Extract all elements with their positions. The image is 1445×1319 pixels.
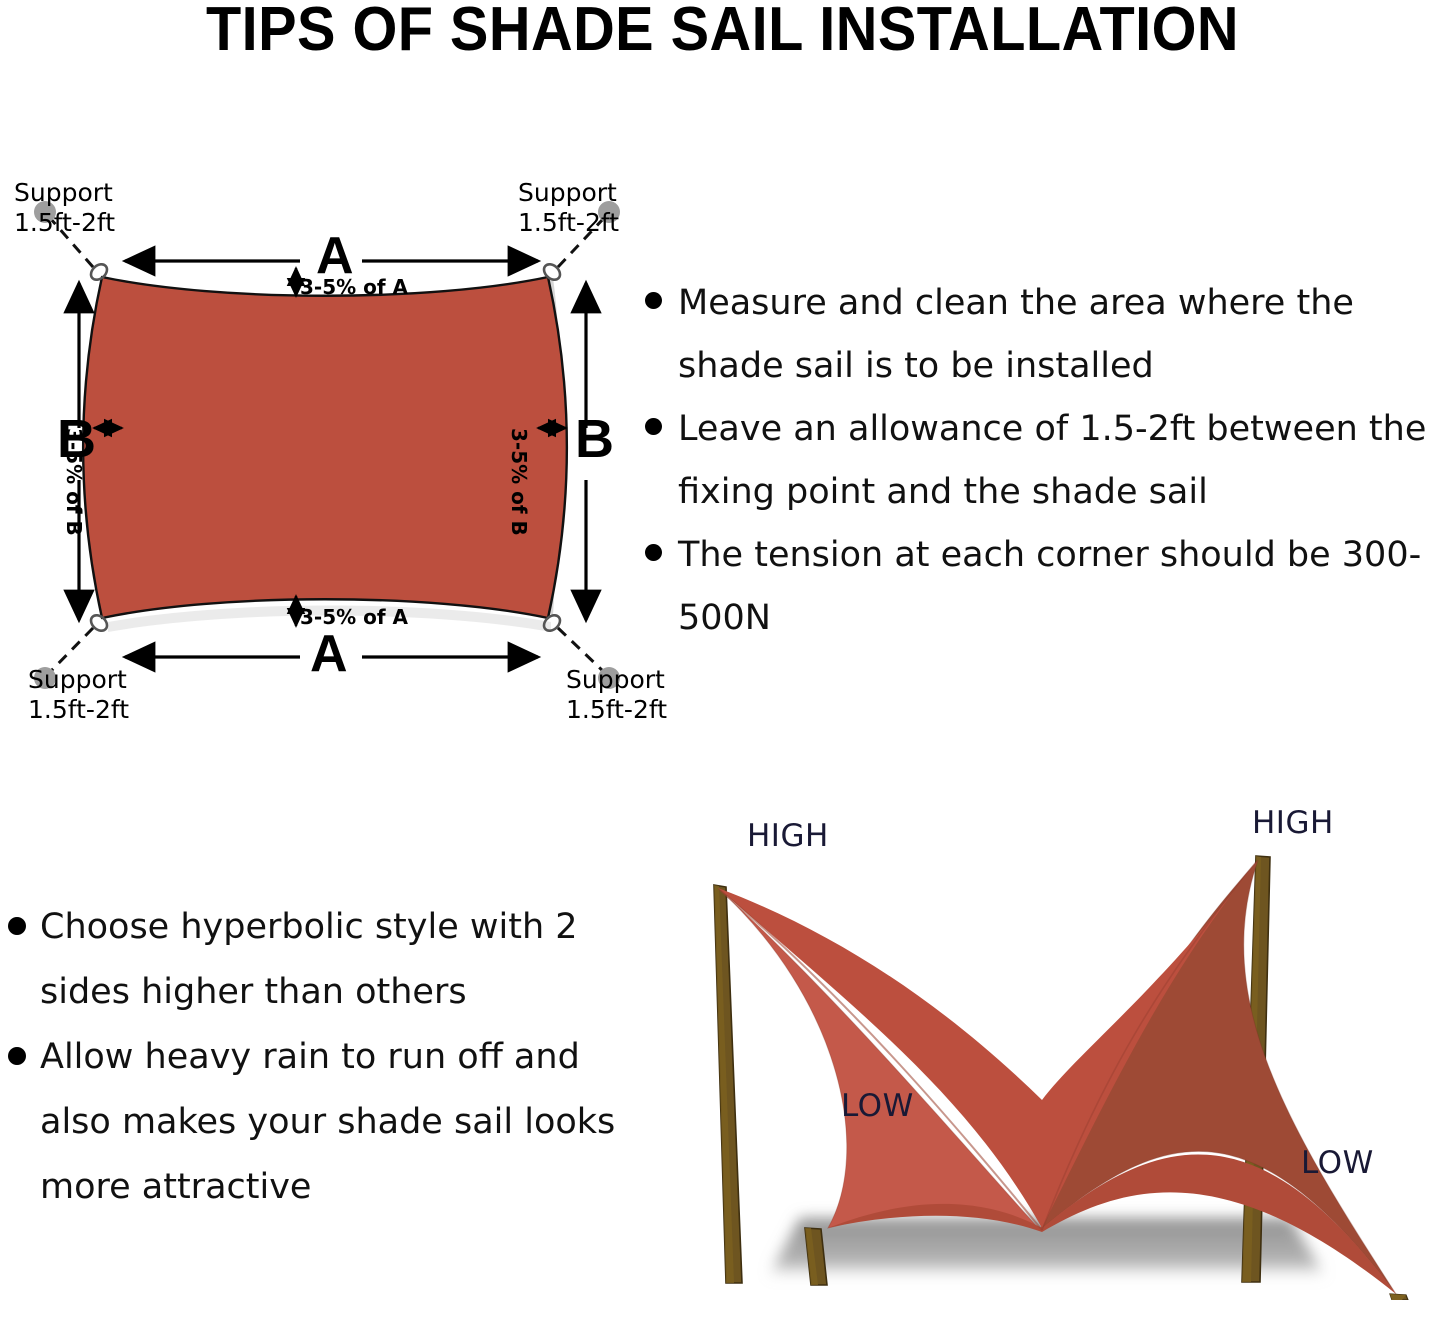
sag-label-a-bottom: 3-5% of A <box>300 605 408 629</box>
list-item: Leave an allowance of 1.5-2ft between th… <box>645 398 1445 524</box>
sail-fabric <box>83 277 567 618</box>
bullet-dot-icon <box>645 418 662 435</box>
sag-label-a-top: 3-5% of A <box>300 275 408 299</box>
list-item-text: Choose hyperbolic style with 2 sides hig… <box>40 895 628 1025</box>
list-item-text: Leave an allowance of 1.5-2ft between th… <box>678 398 1445 524</box>
label-high-right: HIGH <box>1252 805 1334 841</box>
sag-label-b-right: 3-5% of B <box>507 428 531 536</box>
support-label-bottom-left: Support 1.5ft-2ft <box>28 665 129 725</box>
support-label-top-left: Support 1.5ft-2ft <box>14 178 115 238</box>
dimension-label-a-bottom: A <box>310 628 348 680</box>
list-item: The tension at each corner should be 300… <box>645 524 1445 650</box>
dimension-label-b-right: B <box>575 412 614 466</box>
infographic-page: TIPS OF SHADE SAIL INSTALLATION <box>0 0 1445 1319</box>
hyperbolic-sail-diagram <box>690 800 1445 1300</box>
bullet-dot-icon <box>8 917 26 935</box>
bullet-dot-icon <box>645 292 662 309</box>
installation-tips-list: Measure and clean the area where the sha… <box>645 272 1445 650</box>
list-item-text: Allow heavy rain to run off and also mak… <box>40 1025 628 1220</box>
page-title: TIPS OF SHADE SAIL INSTALLATION <box>51 0 1395 66</box>
bullet-dot-icon <box>8 1047 26 1065</box>
support-label-bottom-right: Support 1.5ft-2ft <box>566 665 667 725</box>
list-item-text: Measure and clean the area where the sha… <box>678 272 1445 398</box>
list-item-text: The tension at each corner should be 300… <box>678 524 1445 650</box>
list-item: Choose hyperbolic style with 2 sides hig… <box>8 895 628 1025</box>
label-high-left: HIGH <box>747 818 829 854</box>
list-item: Measure and clean the area where the sha… <box>645 272 1445 398</box>
label-low-left: LOW <box>841 1088 914 1124</box>
post-high-left <box>714 885 742 1283</box>
hyperbolic-style-tips-list: Choose hyperbolic style with 2 sides hig… <box>8 895 628 1220</box>
list-item: Allow heavy rain to run off and also mak… <box>8 1025 628 1220</box>
bullet-dot-icon <box>645 544 662 561</box>
label-low-right: LOW <box>1301 1145 1374 1181</box>
support-label-top-right: Support 1.5ft-2ft <box>518 178 619 238</box>
sag-label-b-left: 3-5% of B <box>62 428 86 536</box>
